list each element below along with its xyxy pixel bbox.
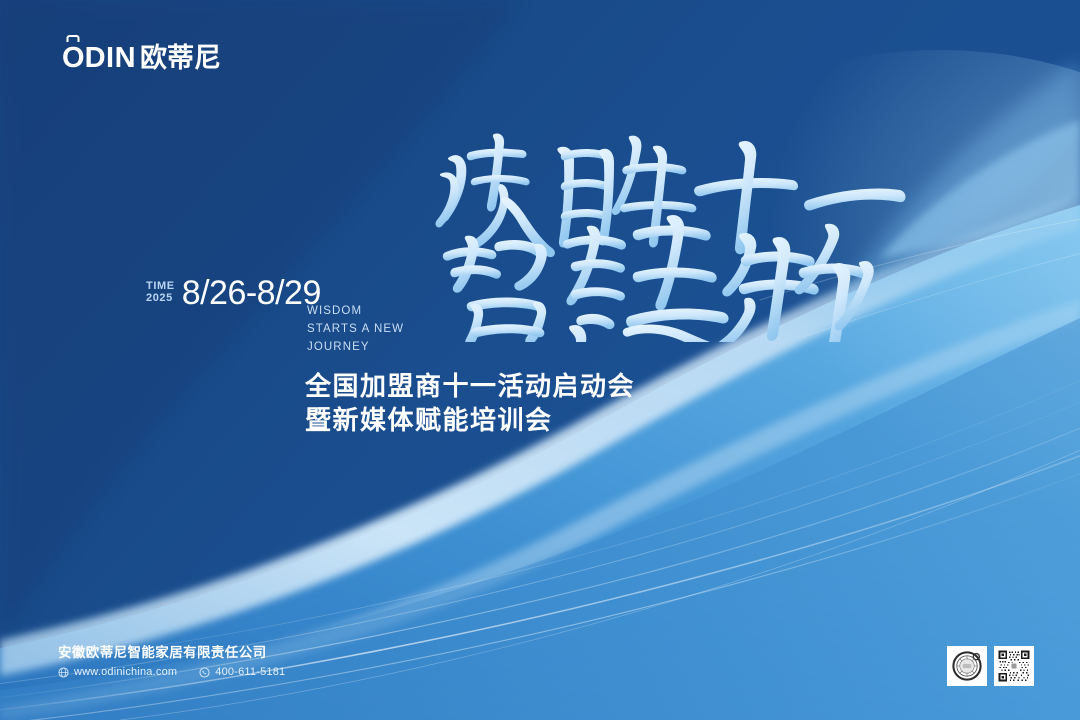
brand-seal-badge[interactable] [947, 646, 987, 686]
date-range: 8/26-8/29 [182, 276, 321, 310]
phone-text: 400-611-5181 [215, 666, 285, 678]
contact-row: www.odinichina.com 400-611-5181 [58, 666, 307, 678]
logo-chinese-text: 欧蒂尼 [140, 45, 221, 72]
event-date-block: TIME 2025 8/26-8/29 [146, 276, 321, 310]
brand-logo: O DIN 欧蒂尼 [62, 44, 221, 73]
website-text: www.odinichina.com [74, 666, 177, 678]
subtitle-line-2: 暨新媒体赋能培训会 [305, 403, 635, 437]
tagline-line-3: JOURNEY [307, 338, 404, 356]
subtitle-line-1: 全国加盟商十一活动启动会 [305, 369, 635, 403]
footer-block: 安徽欧蒂尼智能家居有限责任公司 www.odinichina.com 400-6… [58, 644, 307, 678]
headline-calligraphy [430, 112, 910, 342]
tagline-line-2: STARTS A NEW [307, 320, 404, 338]
headline-line2-last [850, 237, 880, 333]
headline-svg [430, 112, 910, 342]
logo-latin-text: DIN [85, 44, 136, 73]
phone-icon [199, 667, 210, 678]
tagline-line-1: WISDOM [307, 302, 404, 320]
globe-icon [58, 667, 69, 678]
phone-contact[interactable]: 400-611-5181 [199, 666, 285, 678]
english-tagline: WISDOM STARTS A NEW JOURNEY [307, 302, 404, 356]
headline-line2 [443, 215, 874, 342]
background-artwork [0, 0, 1080, 720]
poster-root: O DIN 欧蒂尼 [0, 0, 1080, 720]
time-year: 2025 [146, 292, 175, 304]
code-group [947, 646, 1034, 686]
qr-code-icon [997, 649, 1031, 683]
wechat-qr-code[interactable] [994, 646, 1034, 686]
logo-o-glyph: O [62, 42, 85, 74]
website-contact[interactable]: www.odinichina.com [58, 666, 177, 678]
company-name: 安徽欧蒂尼智能家居有限责任公司 [58, 644, 307, 662]
logo-o-letter: O [62, 44, 85, 73]
time-label-stack: TIME 2025 [146, 280, 175, 306]
seal-icon [950, 649, 984, 683]
time-label: TIME [146, 280, 175, 292]
logo-macron-icon [67, 35, 80, 42]
event-subtitle: 全国加盟商十一活动启动会 暨新媒体赋能培训会 [305, 369, 635, 437]
